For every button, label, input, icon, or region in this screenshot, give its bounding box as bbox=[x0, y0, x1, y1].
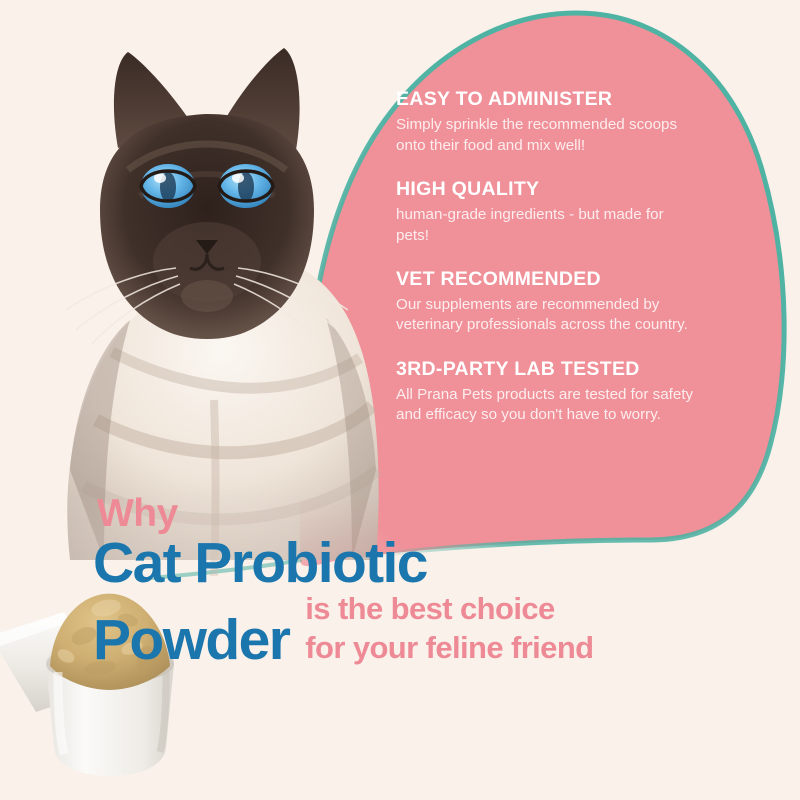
feature-item-easy-to-administer: EASY TO ADMINISTER Simply sprinkle the r… bbox=[396, 88, 696, 156]
tagline-line2: for your feline friend bbox=[305, 631, 593, 670]
feature-body: All Prana Pets products are tested for s… bbox=[396, 385, 696, 425]
feature-title: HIGH QUALITY bbox=[396, 178, 696, 200]
feature-body: human-grade ingredients - but made for p… bbox=[396, 205, 696, 245]
feature-body: Simply sprinkle the recommended scoops o… bbox=[396, 115, 696, 155]
tagline: is the best choice for your feline frien… bbox=[305, 592, 593, 669]
headline-title-rows: Cat Probiotic Powder is the best choice … bbox=[93, 536, 733, 669]
feature-body: Our supplements are recommended by veter… bbox=[396, 295, 696, 335]
feature-item-vet-recommended: VET RECOMMENDED Our supplements are reco… bbox=[396, 268, 696, 336]
headline-why: Why bbox=[93, 494, 733, 533]
product-name-line1: Cat Probiotic bbox=[93, 536, 733, 592]
feature-title: EASY TO ADMINISTER bbox=[396, 88, 696, 110]
feature-title: VET RECOMMENDED bbox=[396, 268, 696, 290]
feature-title: 3RD-PARTY LAB TESTED bbox=[396, 358, 696, 380]
headline-block: Why Cat Probiotic Powder is the best cho… bbox=[93, 494, 733, 669]
feature-item-3rd-party-lab-tested: 3RD-PARTY LAB TESTED All Prana Pets prod… bbox=[396, 358, 696, 426]
feature-list: EASY TO ADMINISTER Simply sprinkle the r… bbox=[396, 88, 696, 425]
poster-canvas: EASY TO ADMINISTER Simply sprinkle the r… bbox=[0, 0, 800, 800]
product-name-row2: Powder is the best choice for your felin… bbox=[93, 592, 733, 669]
tagline-line1: is the best choice bbox=[305, 592, 593, 631]
product-name-line2: Powder bbox=[93, 613, 289, 669]
feature-item-high-quality: HIGH QUALITY human-grade ingredients - b… bbox=[396, 178, 696, 246]
